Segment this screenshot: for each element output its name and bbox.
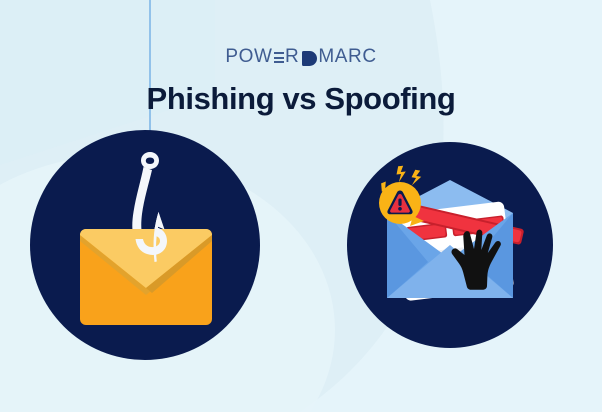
phishing-envelope <box>80 229 212 325</box>
poster-canvas: POW R MARC Phishing vs Spoofing <box>0 0 602 412</box>
warning-exclamation-dot <box>398 207 402 211</box>
warning-exclamation-stem <box>398 199 401 207</box>
illustration-group <box>0 0 602 412</box>
phishing-illustration <box>30 130 260 360</box>
spoofing-illustration <box>347 142 553 348</box>
